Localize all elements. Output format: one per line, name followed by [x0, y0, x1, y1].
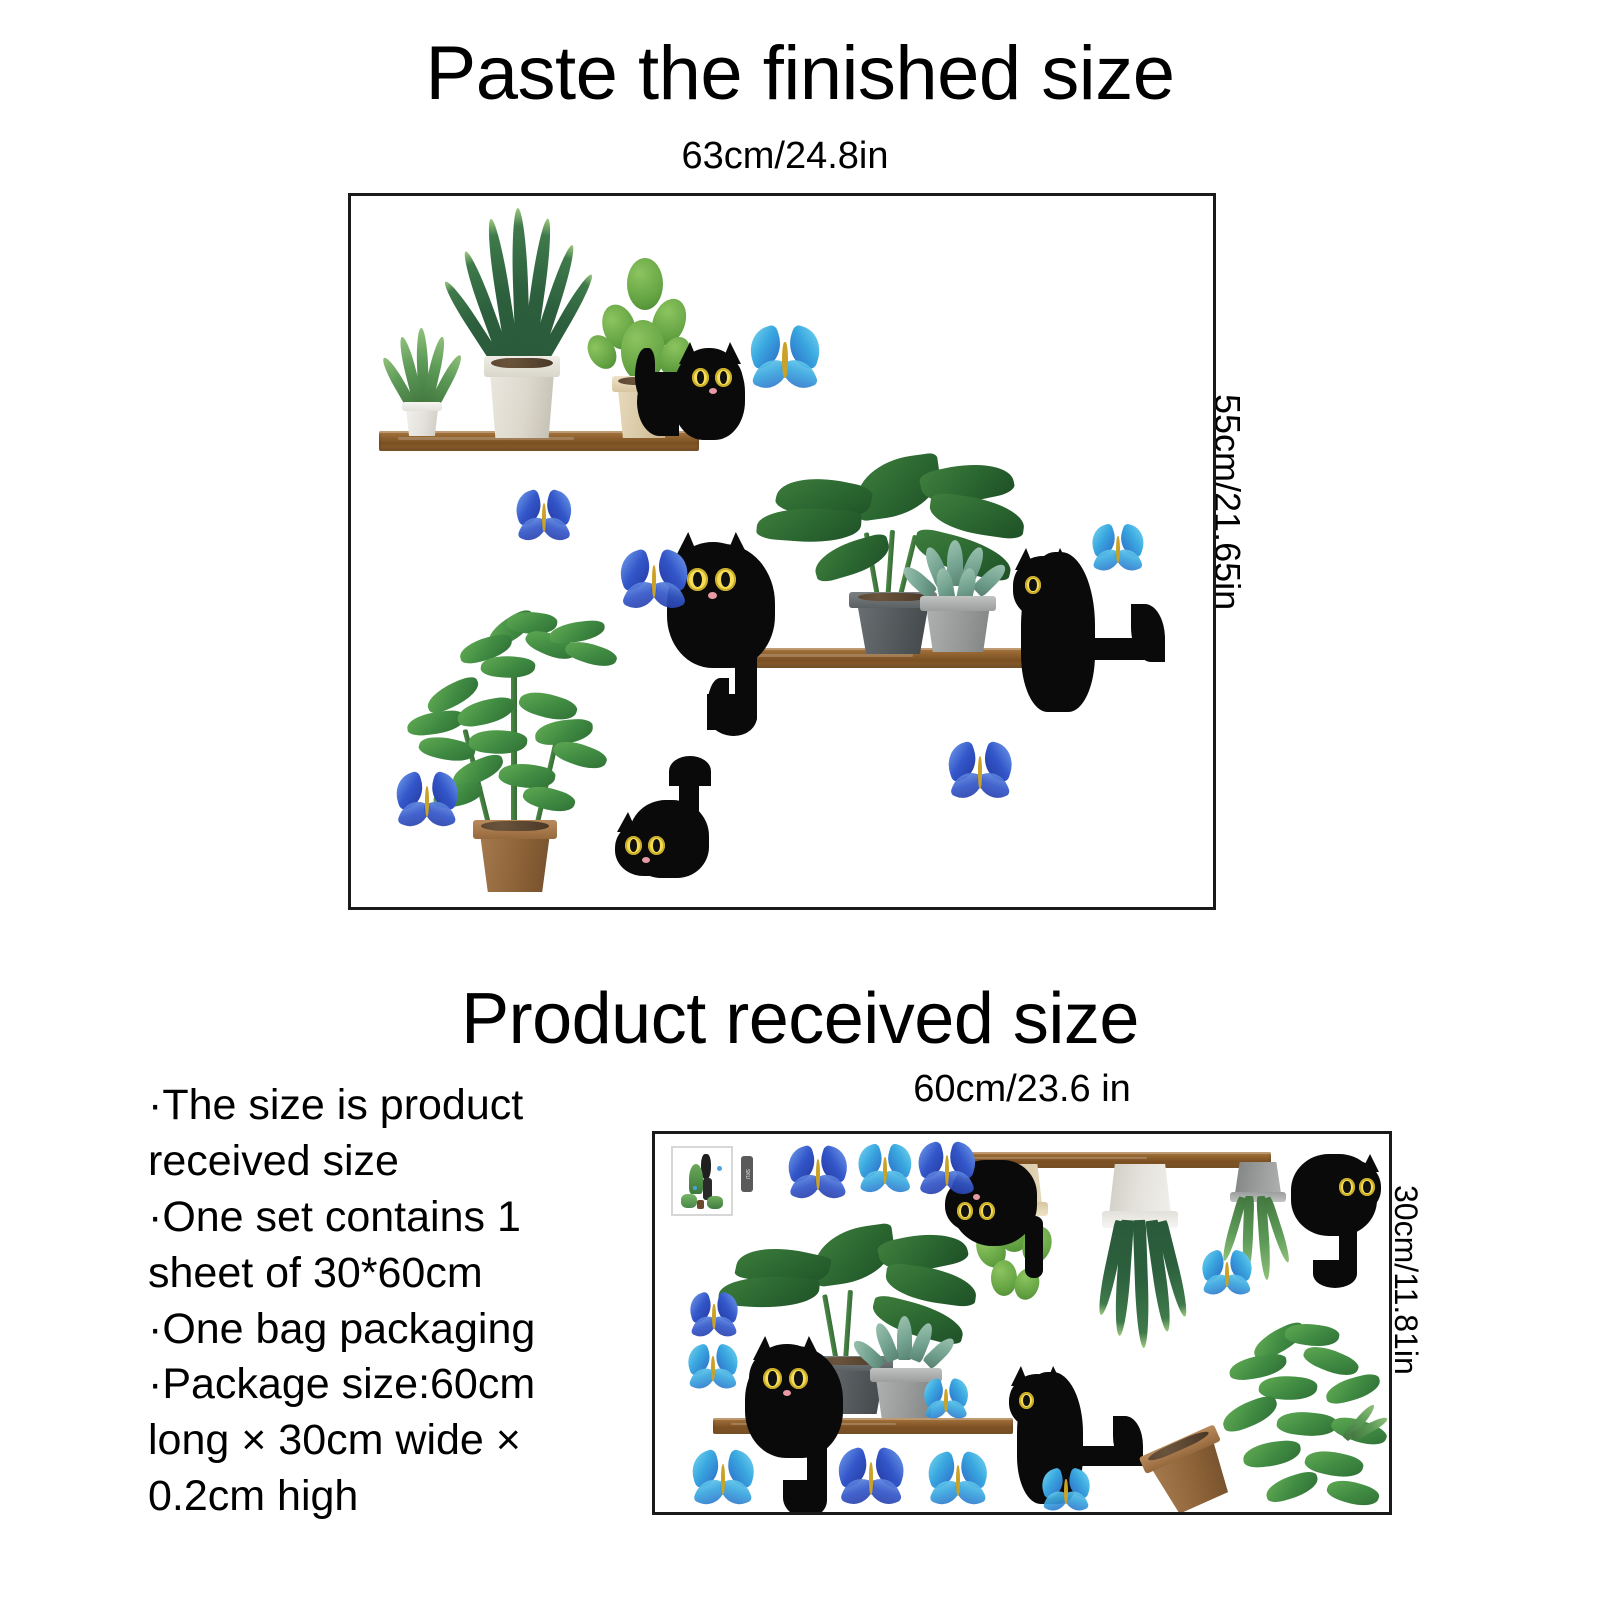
butterfly-icon	[1091, 526, 1145, 572]
butterfly-icon	[927, 1454, 989, 1506]
butterfly-icon	[395, 774, 459, 828]
aloe-plant-white-pot	[387, 328, 457, 436]
barcode-tag: SKU	[741, 1156, 753, 1192]
black-cat-climbing	[1003, 546, 1173, 738]
butterfly-icon	[689, 1294, 739, 1338]
page-title-received-size: Product received size	[0, 978, 1600, 1060]
black-cat-top-shelf	[637, 326, 747, 438]
page-title-finished-size: Paste the finished size	[0, 30, 1600, 117]
bullet-item: ·One set contains 1 sheet of 30*60cm	[148, 1190, 578, 1302]
snake-plant-beige-pot	[461, 208, 581, 438]
received-width-label: 60cm/23.6 in	[652, 1068, 1392, 1111]
butterfly-icon	[687, 1346, 739, 1390]
product-details-list: ·The size is product received size ·One …	[148, 1078, 578, 1525]
infographic-root: Paste the finished size 63cm/24.8in 55cm…	[0, 0, 1600, 1600]
butterfly-icon	[515, 492, 573, 542]
hanging-snake-plant-pot	[1085, 1164, 1195, 1364]
black-cat-upside-down-right	[1283, 1154, 1391, 1304]
bullet-item: ·The size is product received size	[148, 1078, 578, 1190]
butterfly-icon	[619, 552, 689, 610]
bullet-item: ·Package size:60cm long × 30cm wide × 0.…	[148, 1357, 578, 1525]
finished-width-label: 63cm/24.8in	[0, 135, 1570, 178]
black-cat-crouching	[603, 762, 713, 902]
butterfly-icon	[857, 1146, 913, 1194]
butterfly-icon	[917, 1144, 977, 1196]
finished-size-preview-panel	[348, 193, 1216, 910]
butterfly-icon	[787, 1148, 849, 1200]
butterfly-icon	[947, 744, 1013, 800]
butterfly-icon	[837, 1450, 905, 1506]
tag-text: SKU	[744, 1169, 750, 1179]
butterfly-icon	[1201, 1252, 1253, 1296]
agave-succulent-grey-pot	[903, 540, 1013, 652]
received-height-label: 30cm/11.81in	[1387, 1185, 1424, 1375]
butterfly-icon	[923, 1380, 969, 1420]
butterfly-icon	[749, 328, 821, 390]
bullet-item: ·One bag packaging	[148, 1302, 578, 1358]
butterfly-icon	[1041, 1470, 1091, 1512]
received-size-sheet-panel: SKU	[652, 1131, 1392, 1515]
butterfly-icon	[691, 1452, 755, 1506]
preview-thumbnail-card	[671, 1146, 733, 1216]
loose-schefflera-leaves	[1215, 1324, 1392, 1514]
